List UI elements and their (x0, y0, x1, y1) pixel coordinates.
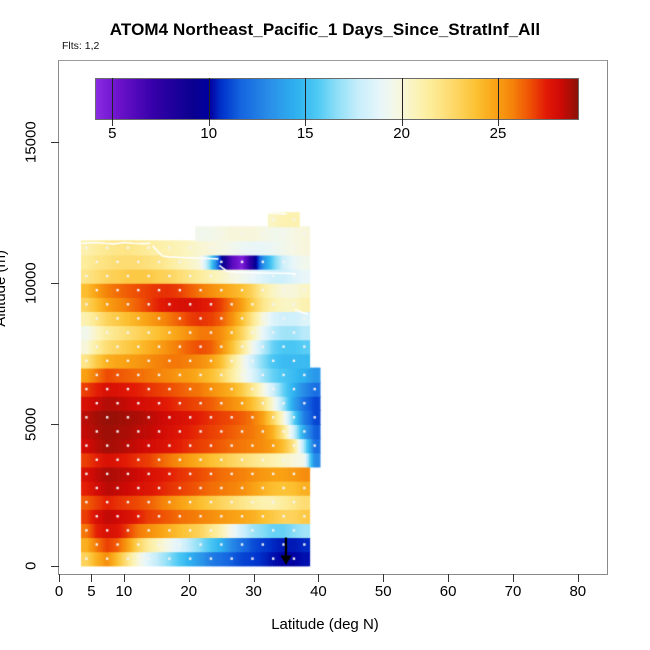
y-axis-tick-label: 15000 (11, 108, 51, 176)
x-axis-tick (318, 574, 319, 582)
x-axis-tick-label: 70 (505, 583, 522, 600)
x-axis-tick-label: 40 (310, 583, 327, 600)
x-axis-tick (383, 574, 384, 582)
y-axis-tick (51, 283, 59, 284)
x-axis-tick-label: 20 (180, 583, 197, 600)
colorbar-divider (402, 78, 403, 120)
heatmap-data-canvas[interactable] (59, 61, 607, 574)
x-axis-label: Latitude (deg N) (0, 616, 650, 633)
colorbar-tick-label: 15 (297, 125, 314, 142)
x-axis-tick-label: 10 (116, 583, 133, 600)
y-axis-tick-label: 10000 (11, 249, 51, 317)
x-axis-tick-label: 50 (375, 583, 392, 600)
flights-annotation: Flts: 1,2 (62, 40, 99, 52)
x-axis-tick (448, 574, 449, 582)
colorbar-divider (112, 78, 113, 120)
x-axis-tick (124, 574, 125, 582)
page-title: ATOM4 Northeast_Pacific_1 Days_Since_Str… (0, 20, 650, 40)
x-axis-tick-label: 30 (245, 583, 262, 600)
x-axis-tick (91, 574, 92, 582)
y-axis-tick (51, 566, 59, 567)
colorbar-tick-label: 10 (200, 125, 217, 142)
x-axis-tick (254, 574, 255, 582)
x-axis-tick-label: 60 (440, 583, 457, 600)
colorbar-tick-label: 25 (490, 125, 507, 142)
y-axis-tick (51, 142, 59, 143)
colorbar-tick-label: 5 (108, 125, 116, 142)
colorbar[interactable]: 510152025 (95, 78, 579, 120)
colorbar-divider (498, 78, 499, 120)
y-axis-tick-label: 0 (11, 532, 51, 600)
y-axis-tick-label: 5000 (11, 390, 51, 458)
x-axis-tick (189, 574, 190, 582)
x-axis-tick-label: 5 (87, 583, 95, 600)
x-axis-tick (578, 574, 579, 582)
colorbar-gradient (95, 78, 579, 120)
colorbar-tick-label: 20 (393, 125, 410, 142)
colorbar-divider (305, 78, 306, 120)
x-axis-tick (59, 574, 60, 582)
x-axis-tick-label: 0 (55, 583, 63, 600)
colorbar-divider (209, 78, 210, 120)
x-axis-tick (513, 574, 514, 582)
x-axis-tick-label: 80 (569, 583, 586, 600)
y-axis-tick (51, 424, 59, 425)
y-axis-label: Altitude (m) (0, 250, 9, 327)
